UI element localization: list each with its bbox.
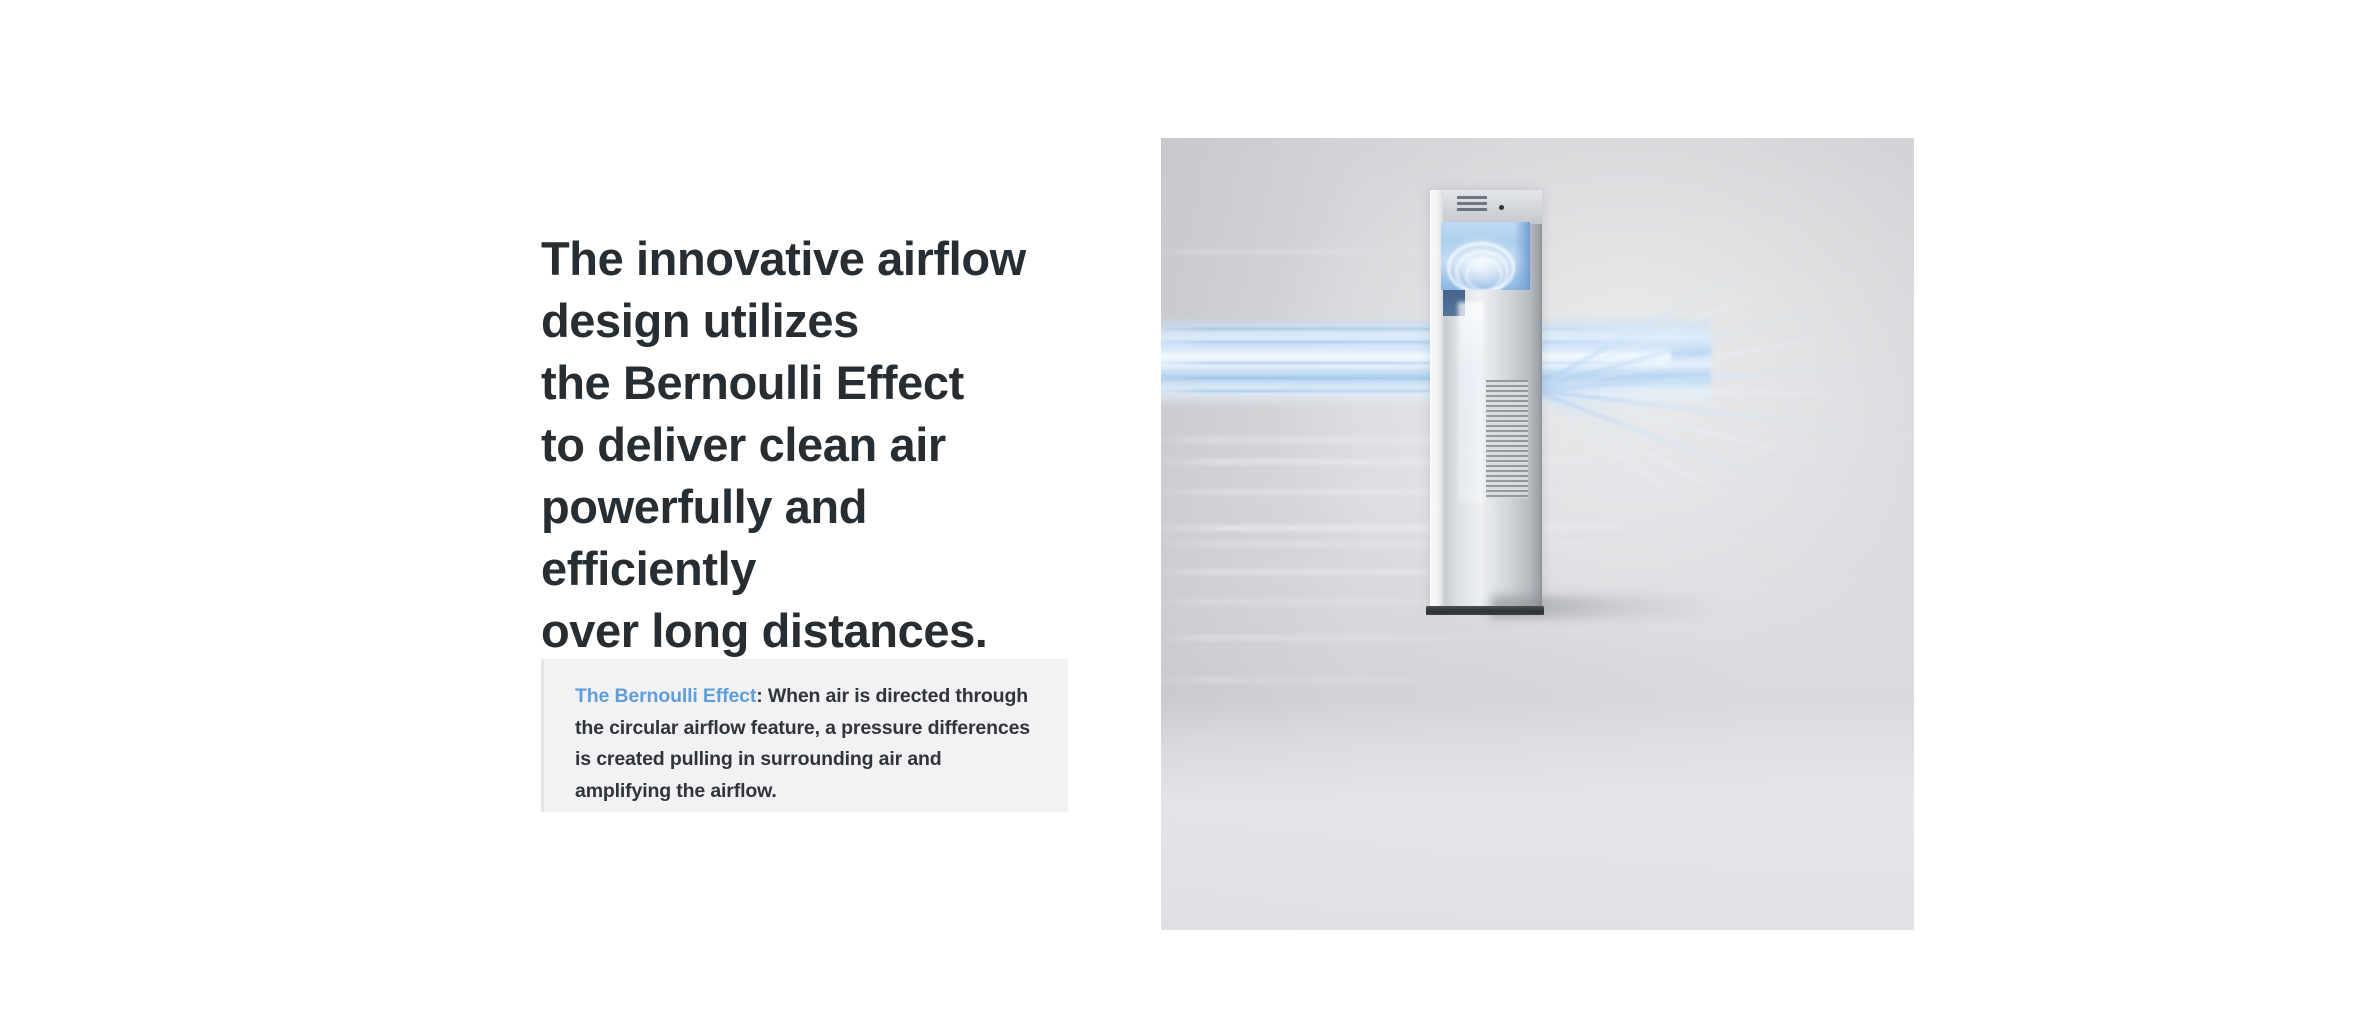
- callout-inner: The Bernoulli Effect: When air is direct…: [544, 659, 1068, 827]
- display-edge: [1514, 222, 1530, 290]
- airflow-hairline: [1161, 362, 1661, 364]
- tower-light-column: [1458, 302, 1484, 502]
- tower-louvre-grille: [1486, 380, 1528, 498]
- airflow-beam-core: [1161, 344, 1671, 370]
- airflow-ray: [1533, 363, 1892, 392]
- airflow-ray: [1533, 388, 1844, 468]
- airflow-white-streak: [1161, 678, 1471, 682]
- airflow-ray: [1532, 388, 1756, 514]
- airflow-ray: [1533, 275, 1801, 391]
- airflow-ray: [1533, 388, 1888, 397]
- airflow-ray: [1532, 388, 1804, 496]
- airflow-ray: [1532, 388, 1705, 519]
- airflow-white-streak: [1161, 526, 1671, 530]
- tower-sensor-dot: [1499, 205, 1504, 210]
- airflow-white-streak: [1161, 636, 1511, 640]
- airflow-white-streak: [1161, 250, 1451, 254]
- product-image: [1161, 138, 1914, 930]
- airflow-ray: [1532, 263, 1751, 391]
- airflow-white-streak: [1161, 490, 1651, 494]
- tower-cap-slot: [1457, 196, 1487, 199]
- airflow-ray: [1533, 388, 1876, 434]
- callout-separator: :: [756, 685, 768, 707]
- tower-base-plinth: [1426, 606, 1544, 615]
- airflow-swirl: [1465, 258, 1503, 290]
- air-purifier-icon: [1430, 190, 1542, 608]
- airflow-ray: [1532, 300, 1841, 392]
- airflow-hairline: [1161, 390, 1611, 392]
- airflow-hairline: [1161, 377, 1637, 379]
- headline-block: The innovative airflow design utilizes t…: [541, 228, 1081, 662]
- airflow-white-streak: [1161, 542, 1631, 546]
- airflow-hairline: [1161, 341, 1651, 343]
- airflow-ray: [1533, 329, 1868, 390]
- airflow-hairline: [1161, 328, 1621, 330]
- callout-paragraph: The Bernoulli Effect: When air is direct…: [575, 681, 1042, 807]
- page-title: The innovative airflow design utilizes t…: [541, 228, 1081, 662]
- tower-top-cap: [1443, 190, 1542, 224]
- airflow-display-panel: [1441, 222, 1530, 290]
- airflow-white-streak: [1161, 460, 1621, 464]
- bernoulli-callout-box: The Bernoulli Effect: When air is direct…: [541, 659, 1068, 812]
- callout-term: The Bernoulli Effect: [575, 685, 756, 707]
- slide-root: The innovative airflow design utilizes t…: [0, 0, 2368, 1026]
- tower-cap-slot: [1457, 208, 1487, 211]
- tower-cap-slot: [1457, 202, 1487, 205]
- floor-plane: [1161, 698, 1914, 930]
- airflow-fan-icon: [1533, 198, 1914, 618]
